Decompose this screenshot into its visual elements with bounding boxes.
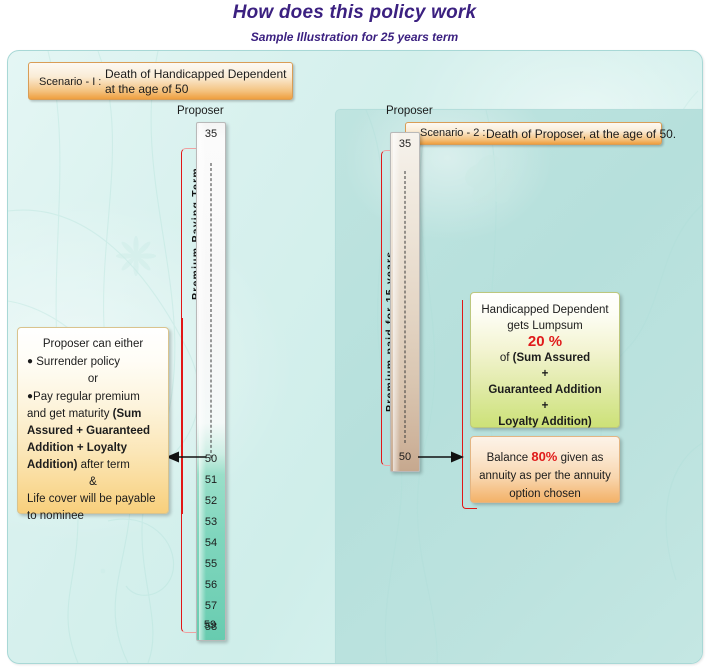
annuity-prefix: Balance (487, 452, 532, 464)
scenario2-timeline-bar: 35 50 (390, 132, 420, 472)
handicapped-dependent-lumpsum-box: Handicapped Dependent gets Lumpsum 20 % … (470, 292, 620, 428)
info-option-1: ● Surrender policy (27, 353, 159, 371)
bullet-icon-1: ● (27, 356, 33, 367)
timeline-dashed-line-left (211, 163, 212, 458)
scenario1-label-box: Scenario - I : Death of Handicapped Depe… (28, 62, 293, 100)
scenario1-description: Death of Handicapped Dependent at the ag… (105, 67, 286, 97)
tick-left-7: 57 (197, 600, 225, 612)
scenario2-key: Scenario - 2 : (420, 127, 485, 139)
scenario1-line2: at the age of 50 (105, 82, 188, 96)
info-closing: Life cover will be payable to nominee (27, 491, 159, 525)
timeline-dashed-line-right (405, 171, 406, 443)
tick-right-start: 35 (391, 138, 419, 150)
arrow-left-icon (166, 450, 206, 464)
scenario1-line1: Death of Handicapped Dependent (105, 67, 286, 81)
green-line-4: Guaranteed Addition (471, 382, 619, 398)
tick-left-2: 52 (197, 495, 225, 507)
info-option-1-text: Surrender policy (36, 356, 120, 368)
scenario1-outcome-box: Proposer can either ● Surrender policy o… (17, 327, 169, 514)
tick-left-9: 59 (196, 619, 224, 631)
annuity-balance-box: Balance 80% given as annuity as per the … (470, 436, 620, 503)
green-line-3: of (Sum Assured (471, 350, 619, 366)
tick-left-5: 55 (197, 558, 225, 570)
tick-left-4: 54 (197, 537, 225, 549)
tick-left-6: 56 (197, 579, 225, 591)
proposer-caption-right: Proposer (386, 105, 433, 117)
scenario1-red-divider (181, 318, 183, 514)
tick-left-1: 51 (197, 474, 225, 486)
annuity-percent: 80% (531, 449, 557, 464)
scenario2-description: Death of Proposer, at the age of 50. (486, 127, 676, 141)
tick-left-3: 53 (197, 516, 225, 528)
info-divider: or (27, 371, 159, 388)
tick-left-start: 35 (197, 128, 225, 140)
arrow-right-icon (418, 450, 464, 464)
page-subtitle: Sample Illustration for 25 years term (0, 30, 709, 44)
bar-gloss-right (393, 133, 400, 471)
proposer-caption-left: Proposer (177, 105, 224, 117)
green-plus-1: + (471, 366, 619, 382)
scenario1-timeline-bar: 35 50 51 52 53 54 55 56 57 58 (196, 122, 226, 641)
green-line-3-text: (Sum Assured (513, 352, 591, 364)
lumpsum-percent: 20 % (471, 334, 619, 350)
scenario1-key: Scenario - I : (39, 76, 101, 88)
green-line-5: Loyalty Addition) (471, 414, 619, 430)
info-ampersand: & (27, 474, 159, 491)
green-line-1: Handicapped Dependent (471, 302, 619, 318)
green-plus-2: + (471, 398, 619, 414)
info-heading: Proposer can either (27, 336, 159, 353)
info-option-2-suffix: after term (77, 459, 129, 471)
scenario2-label-box: Scenario - 2 : Death of Proposer, at the… (405, 122, 662, 145)
tick-right-end: 50 (391, 451, 419, 463)
info-option-2: ●Pay regular premium and get maturity (S… (27, 388, 159, 474)
green-line-2: gets Lumpsum (471, 318, 619, 334)
page-title: How does this policy work (0, 2, 709, 24)
